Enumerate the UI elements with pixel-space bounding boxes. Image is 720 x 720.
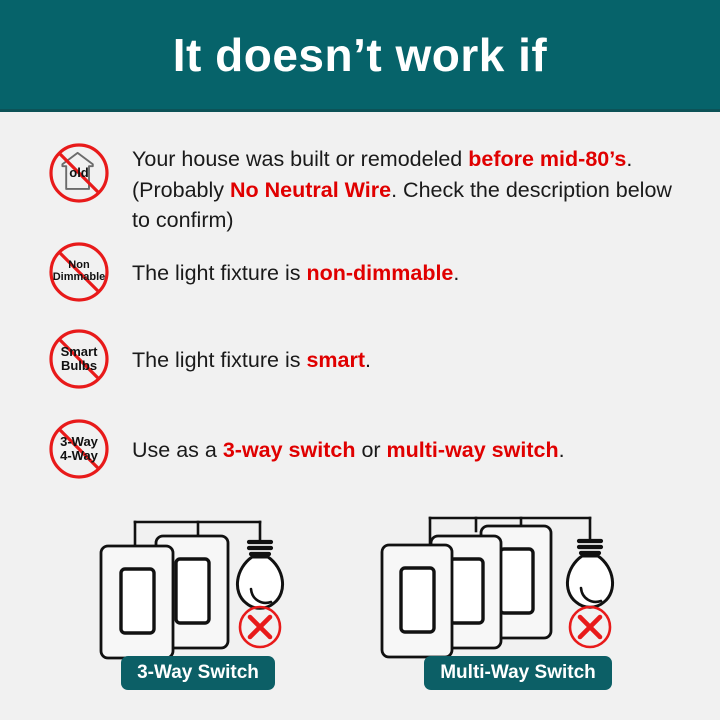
red-x-icon (240, 607, 280, 647)
list-item: old Your house was built or remodeled be… (48, 142, 688, 236)
text-part-highlight: smart (306, 348, 365, 372)
text-part-highlight: multi‑way switch (387, 438, 559, 462)
three-way-switch-diagram: 3-Way Switch (38, 496, 358, 720)
text-part: Use as a (132, 438, 223, 462)
list-item-text: The light fixture is non‑dimmable. (132, 256, 684, 289)
multi-way-wiring-illustration (358, 496, 678, 661)
switch-plate (101, 546, 173, 658)
text-part: . (559, 438, 565, 462)
diagram-label: Multi-Way Switch (424, 656, 612, 690)
no-smart-bulbs-icon: Smart Bulbs (48, 328, 110, 390)
prohibition-sign-icon (48, 328, 110, 390)
list-item-text: Your house was built or remodeled before… (132, 142, 684, 236)
light-bulb-icon (237, 542, 282, 608)
page-title: It doesn’t work if (173, 32, 547, 78)
text-part: Your house was built or remodeled (132, 147, 468, 171)
text-part-highlight: non‑dimmable (306, 261, 453, 285)
diagram-label-wrap: Multi-Way Switch (358, 656, 678, 690)
list-item: Smart Bulbs The light fixture is smart. (48, 328, 688, 390)
no-old-house-icon: old (48, 142, 110, 204)
text-part-highlight: before mid‑80’s (468, 147, 626, 171)
diagram-label: 3-Way Switch (121, 656, 275, 690)
prohibition-sign-icon (48, 241, 110, 303)
no-non-dimmable-icon: Non Dimmable (48, 241, 110, 303)
text-part: The light fixture is (132, 261, 306, 285)
list-item: 3‑Way 4‑Way Use as a 3‑way switch or mul… (48, 418, 708, 480)
header-banner: It doesn’t work if (0, 0, 720, 109)
infographic-page: It doesn’t work if old Your house was bu… (0, 0, 720, 720)
three-way-wiring-illustration (38, 496, 358, 661)
list-item-text: Use as a 3‑way switch or multi‑way switc… (132, 433, 704, 466)
text-part-highlight: 3‑way switch (223, 438, 356, 462)
prohibition-sign-icon (48, 418, 110, 480)
diagram-label-wrap: 3-Way Switch (38, 656, 358, 690)
switch-diagrams: 3-Way Switch (0, 496, 720, 720)
header-divider (0, 109, 720, 112)
text-part: or (355, 438, 386, 462)
prohibition-sign-icon (48, 142, 110, 204)
no-3way-4way-icon: 3‑Way 4‑Way (48, 418, 110, 480)
text-part: . (453, 261, 459, 285)
text-part: The light fixture is (132, 348, 306, 372)
text-part: . (365, 348, 371, 372)
red-x-icon (570, 607, 610, 647)
list-item-text: The light fixture is smart. (132, 343, 684, 376)
text-part-highlight: No Neutral Wire (230, 178, 391, 202)
light-bulb-icon (567, 541, 612, 607)
multi-way-switch-diagram: Multi-Way Switch (358, 496, 678, 720)
switch-plate (382, 545, 452, 657)
list-item: Non Dimmable The light fixture is non‑di… (48, 241, 688, 303)
